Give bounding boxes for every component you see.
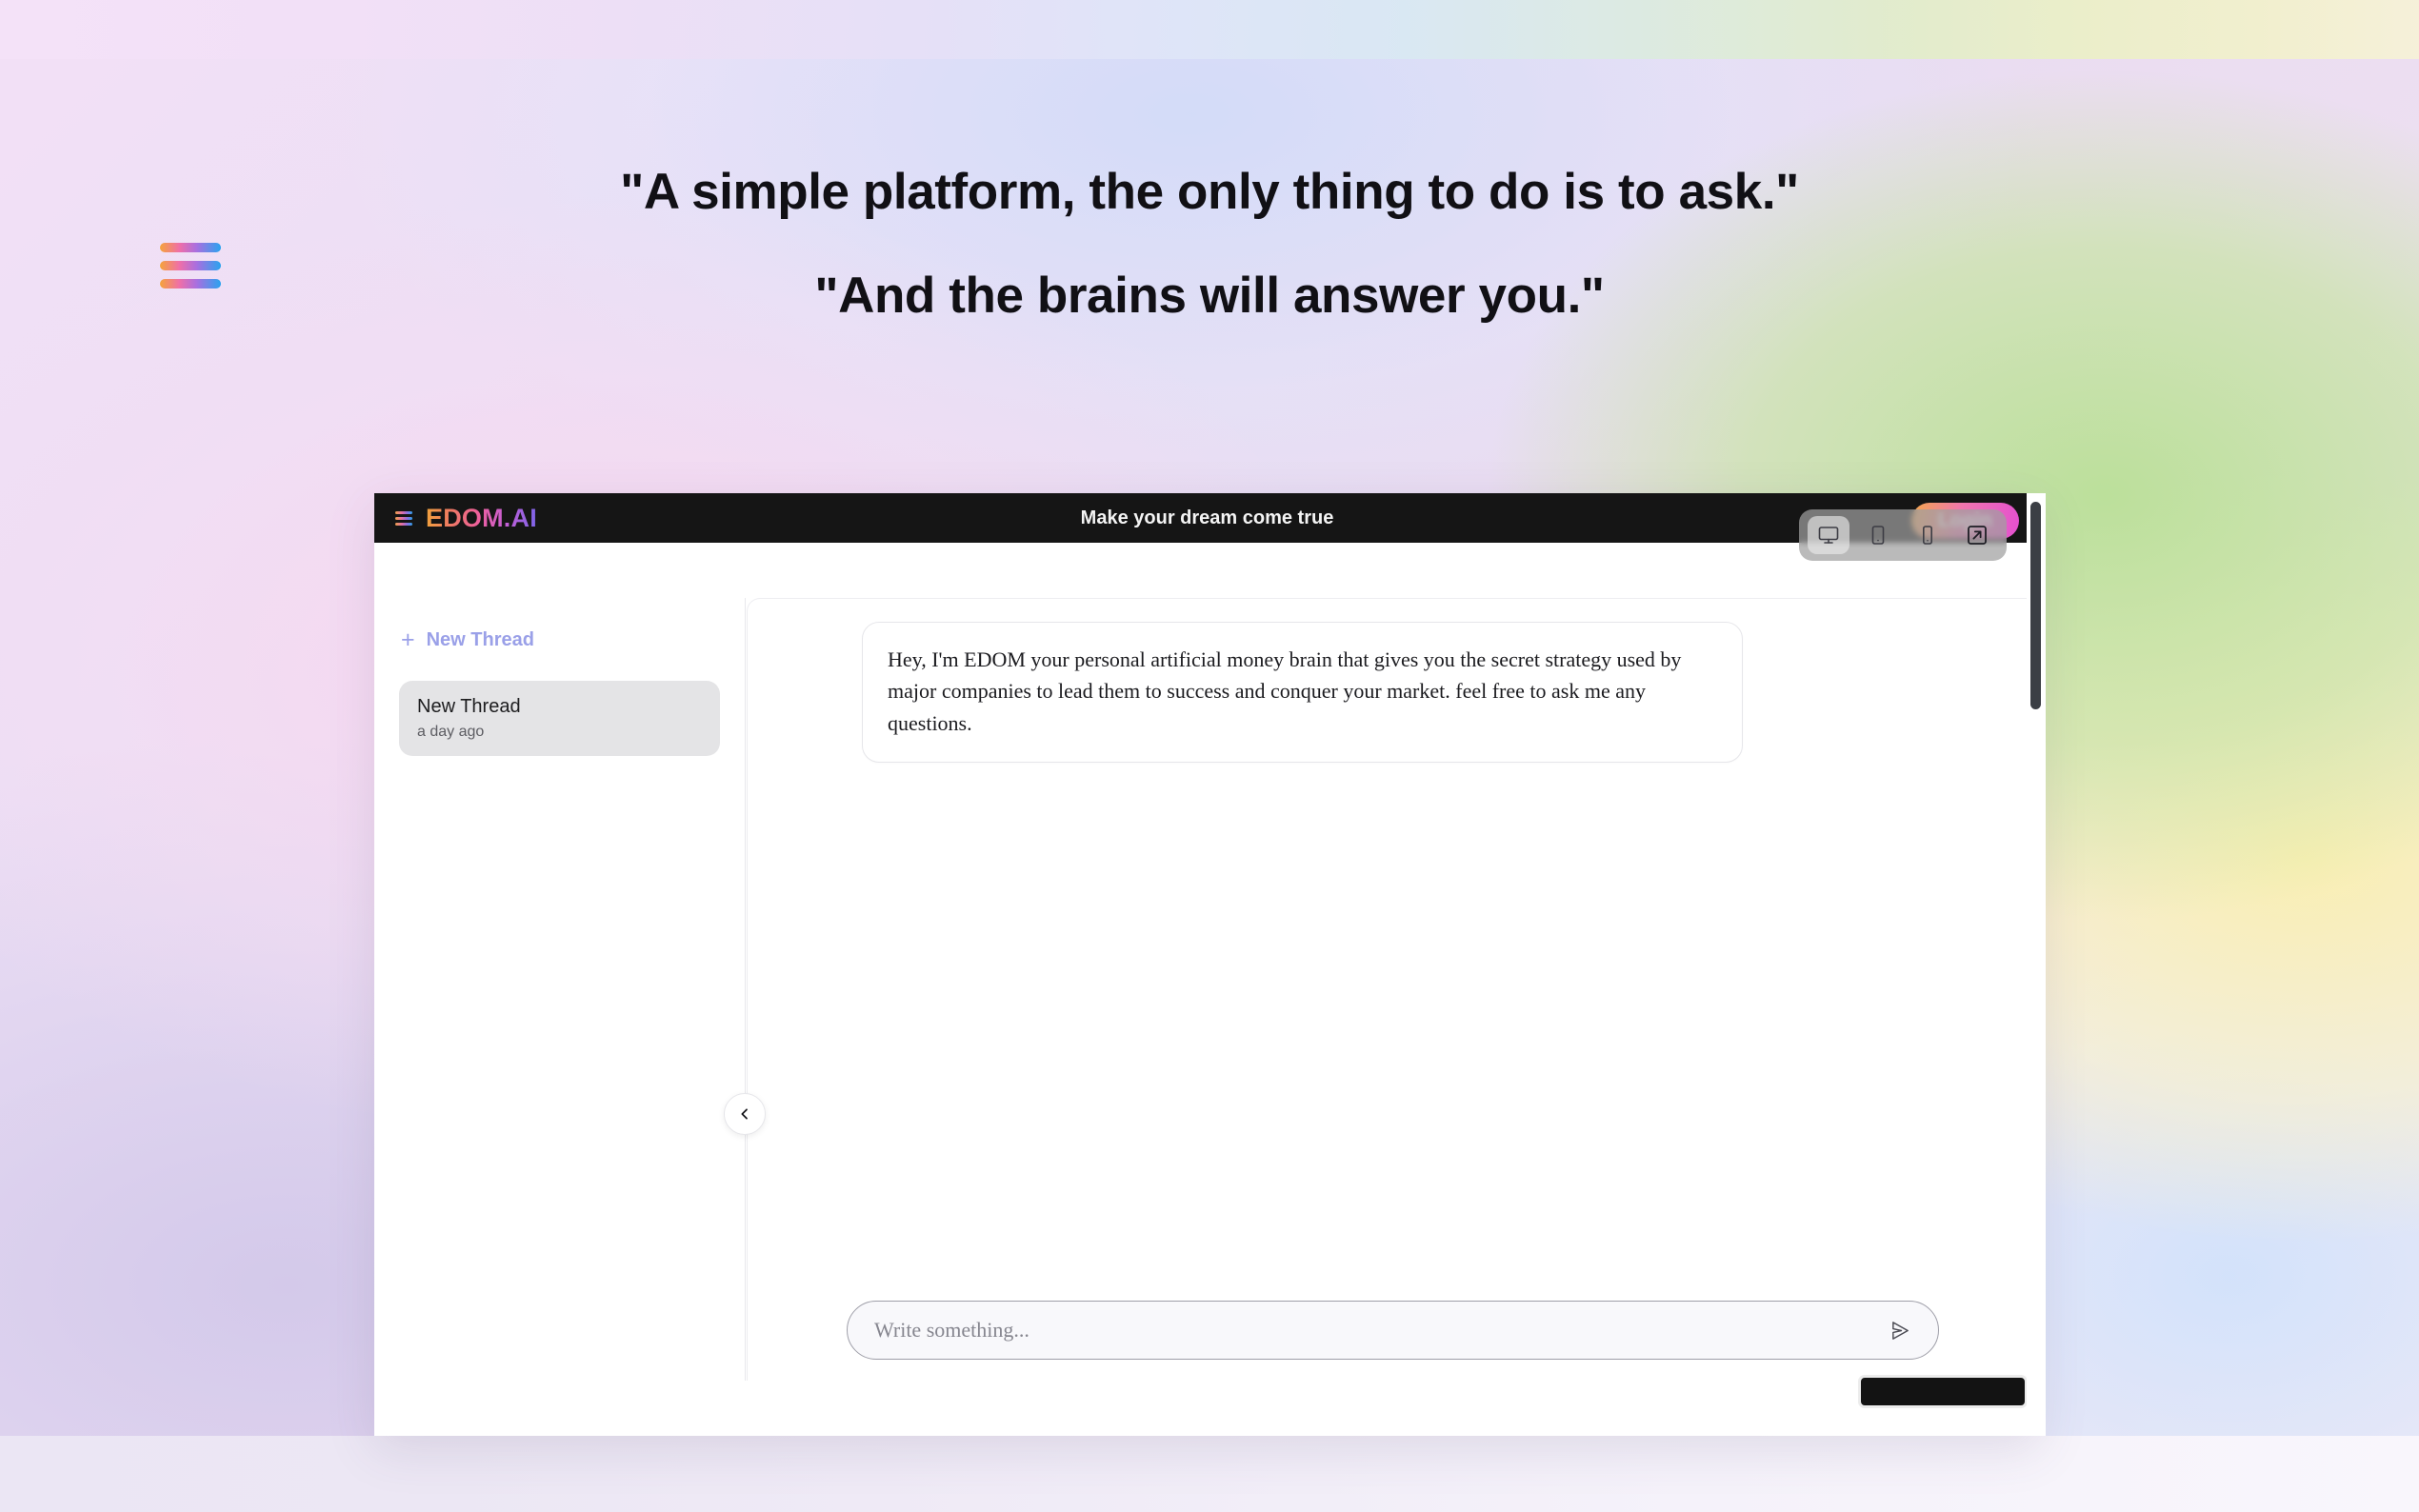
mobile-icon [1916, 524, 1939, 547]
hamburger-bar [160, 279, 221, 288]
sidebar-collapse-button[interactable] [724, 1093, 766, 1135]
tablet-view-button[interactable] [1857, 516, 1899, 554]
composer-wrapper [748, 1301, 2038, 1381]
thread-timestamp: a day ago [417, 724, 702, 741]
tablet-icon [1867, 524, 1889, 547]
send-button[interactable] [1888, 1320, 1913, 1342]
embedded-app-frame: EDOM.AI Make your dream come true Login … [374, 493, 2040, 1436]
hamburger-menu-icon[interactable] [160, 243, 221, 288]
app-body: + New Thread New Thread a day ago Hey, I… [374, 543, 2040, 1436]
hamburger-bar [395, 523, 412, 526]
background-bottom-band [0, 1436, 2419, 1512]
hero-line-2: "And the brains will answer you." [0, 270, 2419, 321]
mobile-view-button[interactable] [1907, 516, 1949, 554]
new-thread-label: New Thread [427, 629, 534, 651]
chat-panel: Hey, I'm EDOM your personal artificial m… [747, 598, 2039, 1381]
send-arrow-icon [1889, 1320, 1911, 1342]
app-header: EDOM.AI Make your dream come true Login [374, 493, 2040, 543]
hamburger-bar [395, 517, 412, 520]
thread-list-item[interactable]: New Thread a day ago [399, 681, 720, 756]
message-text: Hey, I'm EDOM your personal artificial m… [888, 644, 1717, 739]
hamburger-bar [160, 243, 221, 252]
thread-title: New Thread [417, 695, 702, 718]
sidebar: + New Thread New Thread a day ago [374, 598, 746, 1381]
new-thread-button[interactable]: + New Thread [399, 625, 536, 656]
background-top-band [0, 0, 2419, 59]
app-tagline: Make your dream come true [374, 507, 2040, 529]
hamburger-bar [160, 261, 221, 270]
message-input[interactable] [874, 1318, 1888, 1343]
device-preview-toolbar [1799, 509, 2007, 561]
hamburger-bar [395, 511, 412, 514]
assistant-message-bubble: Hey, I'm EDOM your personal artificial m… [862, 622, 1743, 763]
composer[interactable] [847, 1301, 1939, 1360]
frame-scrollbar-track[interactable] [2027, 493, 2046, 1436]
plus-icon: + [401, 628, 415, 652]
chat-column: Hey, I'm EDOM your personal artificial m… [746, 598, 2040, 1381]
external-link-icon [1966, 524, 1989, 547]
app-brand-logo[interactable]: EDOM.AI [426, 504, 537, 533]
hero-section: "A simple platform, the only thing to do… [0, 167, 2419, 321]
app-columns: + New Thread New Thread a day ago Hey, I… [374, 598, 2040, 1381]
app-hamburger-menu-icon[interactable] [395, 511, 412, 526]
frame-scrollbar-thumb[interactable] [2030, 502, 2041, 709]
bottom-right-widget[interactable] [1858, 1375, 2028, 1408]
desktop-view-button[interactable] [1808, 516, 1849, 554]
open-external-button[interactable] [1956, 516, 1998, 554]
monitor-icon [1817, 524, 1840, 547]
hero-line-1: "A simple platform, the only thing to do… [0, 167, 2419, 217]
message-list: Hey, I'm EDOM your personal artificial m… [748, 599, 2038, 1301]
chevron-left-icon [737, 1106, 752, 1122]
